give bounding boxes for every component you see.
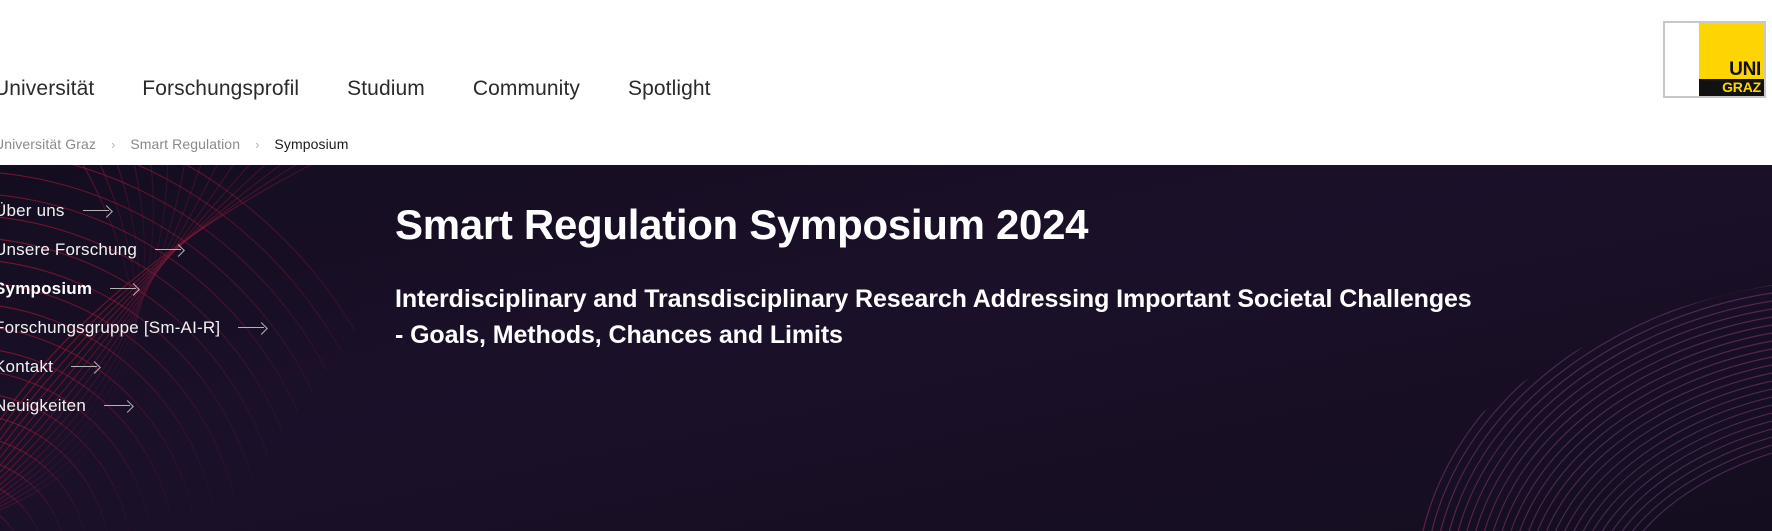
- hero-text-block: Smart Regulation Symposium 2024 Interdis…: [395, 201, 1515, 353]
- sidebar-item-symposium[interactable]: Symposium: [0, 269, 266, 308]
- logo-yellow-panel: UNI GRAZ: [1699, 23, 1764, 96]
- logo-graz-text: GRAZ: [1722, 80, 1761, 94]
- breadcrumb: Universität Graz › Smart Regulation › Sy…: [0, 136, 348, 152]
- breadcrumb-item-smart-regulation[interactable]: Smart Regulation: [130, 136, 240, 152]
- section-sidebar-navigation: Über uns Unsere Forschung Symposium Fors…: [0, 191, 266, 425]
- nav-item-community[interactable]: Community: [473, 73, 580, 105]
- hero-banner: Über uns Unsere Forschung Symposium Fors…: [0, 165, 1772, 531]
- hero-content: Über uns Unsere Forschung Symposium Fors…: [0, 165, 1772, 531]
- breadcrumb-separator-icon: ›: [255, 137, 259, 152]
- sidebar-item-forschungsgruppe-sm-ai-r[interactable]: Forschungsgruppe [Sm-AI-R]: [0, 308, 266, 347]
- page-root: Universität Forschungsprofil Studium Com…: [0, 0, 1772, 531]
- sidebar-item-kontakt[interactable]: Kontakt: [0, 347, 266, 386]
- page-subtitle: Interdisciplinary and Transdisciplinary …: [395, 282, 1480, 353]
- uni-graz-logo[interactable]: UNI GRAZ: [1663, 21, 1766, 98]
- arrow-right-icon: [104, 400, 132, 411]
- logo-black-bar: GRAZ: [1699, 79, 1764, 96]
- arrow-right-icon: [83, 205, 111, 216]
- sidebar-item-unsere-forschung[interactable]: Unsere Forschung: [0, 230, 266, 269]
- breadcrumb-separator-icon: ›: [111, 137, 115, 152]
- arrow-right-icon: [155, 244, 183, 255]
- sidebar-item-neuigkeiten[interactable]: Neuigkeiten: [0, 386, 266, 425]
- page-title: Smart Regulation Symposium 2024: [395, 201, 1515, 248]
- site-header: Universität Forschungsprofil Studium Com…: [0, 0, 1772, 165]
- logo-white-panel: [1665, 23, 1699, 96]
- sidebar-item-label: Neuigkeiten: [0, 396, 86, 416]
- breadcrumb-item-universitaet-graz[interactable]: Universität Graz: [0, 136, 96, 152]
- arrow-right-icon: [238, 322, 266, 333]
- sidebar-item-ueber-uns[interactable]: Über uns: [0, 191, 266, 230]
- nav-item-spotlight[interactable]: Spotlight: [628, 73, 711, 105]
- arrow-right-icon: [110, 283, 138, 294]
- nav-item-forschungsprofil[interactable]: Forschungsprofil: [142, 73, 299, 105]
- nav-item-universitaet[interactable]: Universität: [0, 73, 94, 105]
- logo-uni-text: UNI: [1729, 60, 1761, 79]
- breadcrumb-item-symposium: Symposium: [274, 136, 348, 152]
- sidebar-item-label: Über uns: [0, 201, 65, 221]
- main-navigation: Universität Forschungsprofil Studium Com…: [0, 73, 759, 105]
- sidebar-item-label: Kontakt: [0, 357, 53, 377]
- sidebar-item-label: Unsere Forschung: [0, 240, 137, 260]
- arrow-right-icon: [71, 361, 99, 372]
- sidebar-item-label: Symposium: [0, 279, 92, 299]
- nav-item-studium[interactable]: Studium: [347, 73, 425, 105]
- sidebar-item-label: Forschungsgruppe [Sm-AI-R]: [0, 318, 220, 338]
